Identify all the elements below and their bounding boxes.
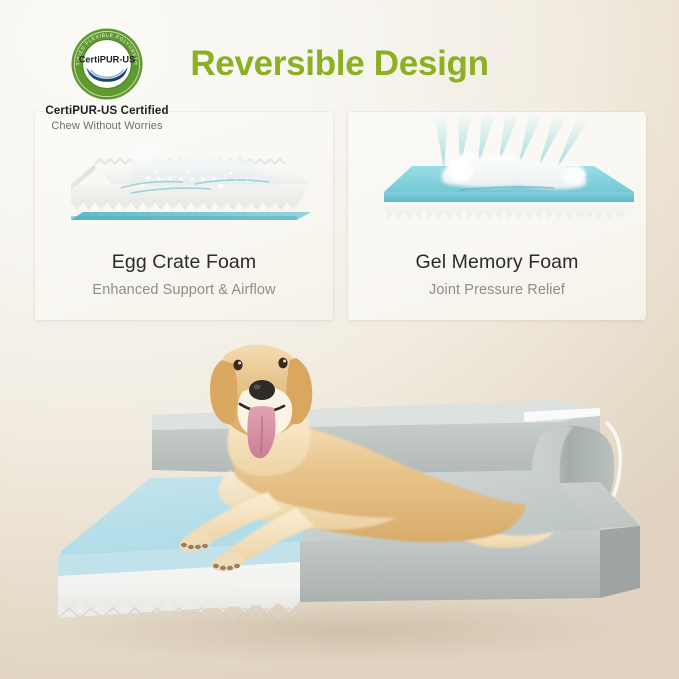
seal-center-text: CertiPUR-US bbox=[79, 55, 136, 65]
feature-card-egg-crate: Egg Crate Foam Enhanced Support & Airflo… bbox=[35, 112, 333, 320]
hero-dog-bed-scene bbox=[0, 330, 679, 679]
certipur-badge: CERTIFIED FLEXIBLE POLYURETHANE WWW.CERT… bbox=[33, 27, 181, 132]
dog-nose bbox=[249, 380, 275, 400]
dog-eye-right bbox=[278, 358, 287, 369]
product-feature-image: Reversible Design bbox=[0, 0, 679, 679]
card-title-gel-memory: Gel Memory Foam bbox=[348, 251, 646, 274]
card-subtitle-gel-memory: Joint Pressure Relief bbox=[348, 282, 646, 298]
dog-silhouette bbox=[442, 153, 587, 189]
gel-front-face bbox=[384, 192, 634, 202]
card-subtitle-egg-crate: Enhanced Support & Airflow bbox=[35, 282, 333, 298]
card-title-egg-crate: Egg Crate Foam bbox=[35, 251, 333, 274]
bed-right-side-face bbox=[600, 526, 640, 598]
feature-card-gel-memory: Gel Memory Foam Joint Pressure Relief bbox=[348, 112, 646, 320]
certipur-seal-icon: CERTIFIED FLEXIBLE POLYURETHANE WWW.CERT… bbox=[70, 27, 144, 101]
dog-eye-left bbox=[233, 360, 242, 371]
badge-subtitle: Chew Without Worries bbox=[33, 120, 181, 132]
badge-title: CertiPUR-US Certified bbox=[33, 105, 181, 117]
gel-memory-foam-illustration bbox=[348, 112, 646, 244]
